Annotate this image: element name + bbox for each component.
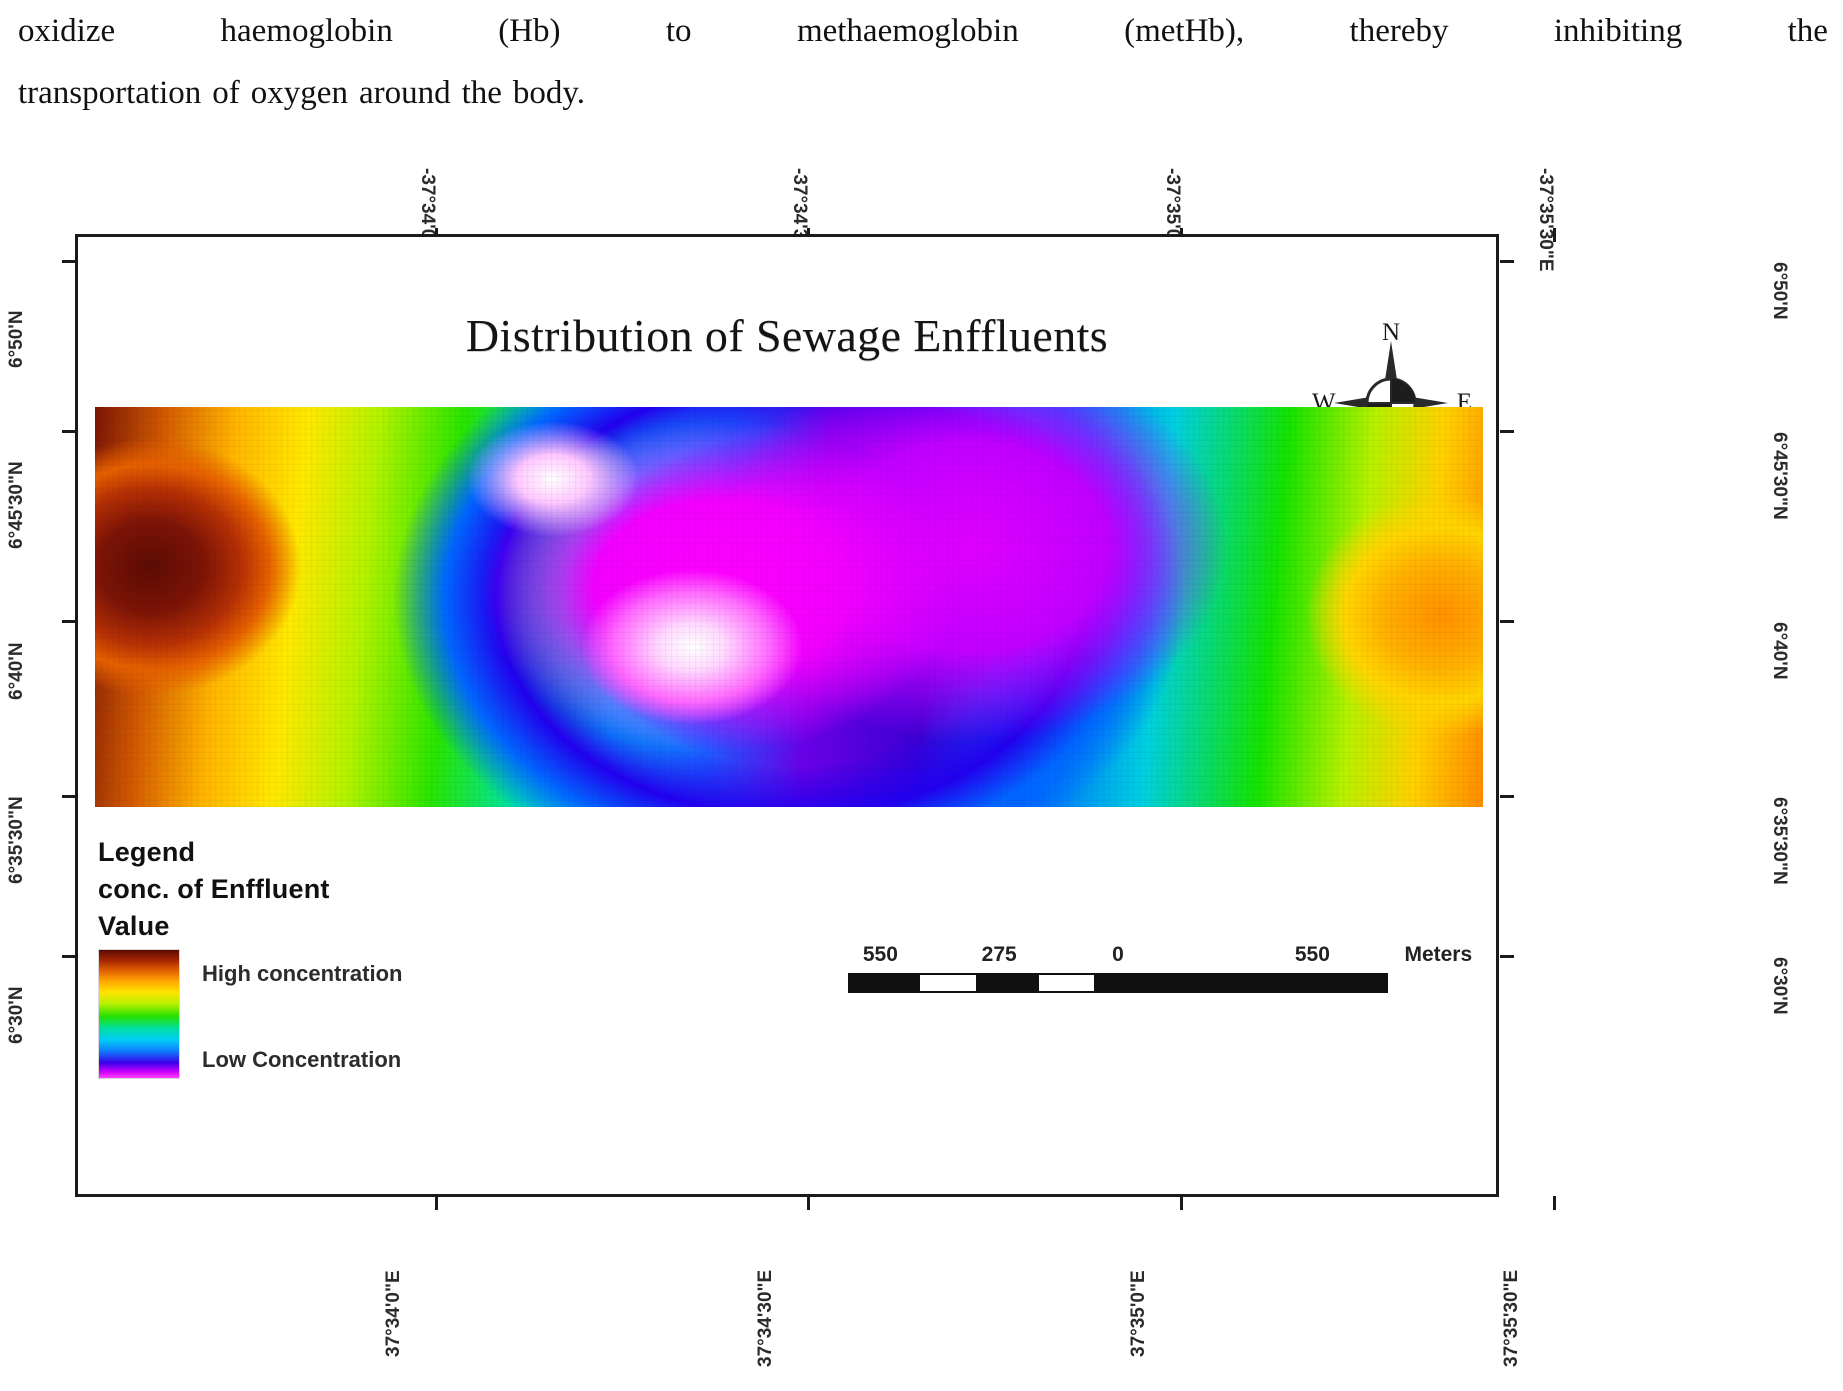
scale-bar-graphic bbox=[848, 973, 1388, 993]
graticule-tick-bottom-4 bbox=[1553, 1196, 1556, 1210]
legend-label-low: Low Concentration bbox=[202, 1047, 401, 1073]
legend: Legend conc. of Enffluent Value High con… bbox=[98, 834, 578, 1079]
legend-value-label: Value bbox=[98, 908, 578, 945]
graticule-label-right-2: 6°45'30"N bbox=[1768, 432, 1790, 520]
map-neatline: Distribution of Sewage Enffluents N S W … bbox=[75, 234, 1499, 1197]
prose-word: the bbox=[1788, 0, 1828, 62]
graticule-label-left-3: 6°40'N bbox=[6, 642, 28, 700]
body-text: oxidize haemoglobin (Hb) to methaemoglob… bbox=[18, 0, 1828, 124]
raster-pixel-texture bbox=[95, 407, 1483, 807]
scale-segment-3 bbox=[978, 973, 1037, 993]
graticule-label-bottom-4: 37°35'30"E bbox=[1501, 1270, 1523, 1367]
graticule-tick-bottom-1 bbox=[435, 1196, 438, 1210]
graticule-tick-right-1 bbox=[1500, 260, 1514, 263]
legend-label-group: High concentration Low Concentration bbox=[202, 949, 532, 1077]
legend-subheading: conc. of Enffluent bbox=[98, 871, 578, 908]
graticule-tick-left-3 bbox=[62, 620, 76, 623]
scale-tick-label-550-right: 550 bbox=[1295, 943, 1330, 967]
prose-word: body. bbox=[513, 62, 585, 124]
prose-word: oxygen bbox=[251, 62, 348, 124]
prose-word: of bbox=[212, 62, 240, 124]
graticule-label-right-4: 6°35'30"N bbox=[1768, 797, 1790, 885]
scale-bar-labels: 550 275 0 550 Meters bbox=[848, 943, 1388, 973]
graticule-label-bottom-2: 37°34'30"E bbox=[755, 1270, 777, 1367]
scale-tick-label-550-left: 550 bbox=[863, 943, 898, 967]
prose-word: thereby bbox=[1350, 0, 1449, 62]
scale-unit-label: Meters bbox=[1404, 943, 1472, 967]
scale-segment-1 bbox=[848, 973, 918, 993]
graticule-tick-left-4 bbox=[62, 795, 76, 798]
legend-color-ramp bbox=[98, 949, 180, 1079]
graticule-tick-left-1 bbox=[62, 260, 76, 263]
graticule-tick-bottom-2 bbox=[807, 1196, 810, 1210]
graticule-label-left-5: 6°30'N bbox=[6, 986, 28, 1044]
graticule-label-right-5: 6°30'N bbox=[1768, 957, 1790, 1015]
legend-body: High concentration Low Concentration bbox=[98, 949, 578, 1079]
legend-label-high: High concentration bbox=[202, 961, 402, 987]
legend-heading: Legend bbox=[98, 834, 578, 871]
graticule-tick-bottom-3 bbox=[1180, 1196, 1183, 1210]
graticule-tick-top-4 bbox=[1553, 228, 1556, 242]
graticule-tick-right-4 bbox=[1500, 795, 1514, 798]
graticule-label-bottom-1: 37°34'0"E bbox=[383, 1270, 405, 1357]
prose-word: haemoglobin bbox=[221, 0, 393, 62]
prose-word: methaemoglobin bbox=[797, 0, 1019, 62]
graticule-label-bottom-3: 37°35'0"E bbox=[1128, 1270, 1150, 1357]
graticule-label-top-4: -37°35'30"E bbox=[1534, 168, 1556, 272]
graticule-label-right-3: 6°40'N bbox=[1768, 622, 1790, 680]
interpolated-concentration-raster bbox=[95, 407, 1483, 807]
scale-segment-5 bbox=[1096, 973, 1388, 993]
graticule-label-left-2: 6°45'30"N bbox=[6, 461, 28, 549]
map-figure: -37°34'0"E -37°34'30"E -37°35'0"E -37°35… bbox=[0, 150, 1843, 1391]
graticule-tick-left-5 bbox=[62, 955, 76, 958]
graticule-tick-right-5 bbox=[1500, 955, 1514, 958]
scale-tick-label-275: 275 bbox=[982, 943, 1017, 967]
prose-word: oxidize bbox=[18, 0, 115, 62]
prose-line-2: transportation of oxygen around the body… bbox=[18, 62, 1828, 124]
graticule-label-right-1: 6°50'N bbox=[1768, 262, 1790, 320]
prose-word: the bbox=[462, 62, 502, 124]
compass-label-north: N bbox=[1382, 319, 1400, 347]
graticule-tick-right-3 bbox=[1500, 620, 1514, 623]
graticule-label-left-1: 6°50'N bbox=[6, 310, 28, 368]
graticule-tick-right-2 bbox=[1500, 430, 1514, 433]
scale-segment-2 bbox=[918, 973, 977, 993]
prose-line-1: oxidize haemoglobin (Hb) to methaemoglob… bbox=[18, 0, 1828, 62]
graticule-tick-left-2 bbox=[62, 430, 76, 433]
prose-word: (Hb) bbox=[498, 0, 560, 62]
map-title: Distribution of Sewage Enffluents bbox=[78, 309, 1496, 362]
prose-word: inhibiting bbox=[1554, 0, 1682, 62]
prose-word: (metHb), bbox=[1124, 0, 1244, 62]
scale-bar: 550 275 0 550 Meters bbox=[848, 943, 1388, 993]
graticule-label-left-4: 6°35'30"N bbox=[6, 796, 28, 884]
scale-segment-4 bbox=[1037, 973, 1096, 993]
scale-tick-label-0: 0 bbox=[1112, 943, 1124, 967]
prose-word: around bbox=[359, 62, 451, 124]
prose-word: transportation bbox=[18, 62, 201, 124]
prose-word: to bbox=[666, 0, 692, 62]
